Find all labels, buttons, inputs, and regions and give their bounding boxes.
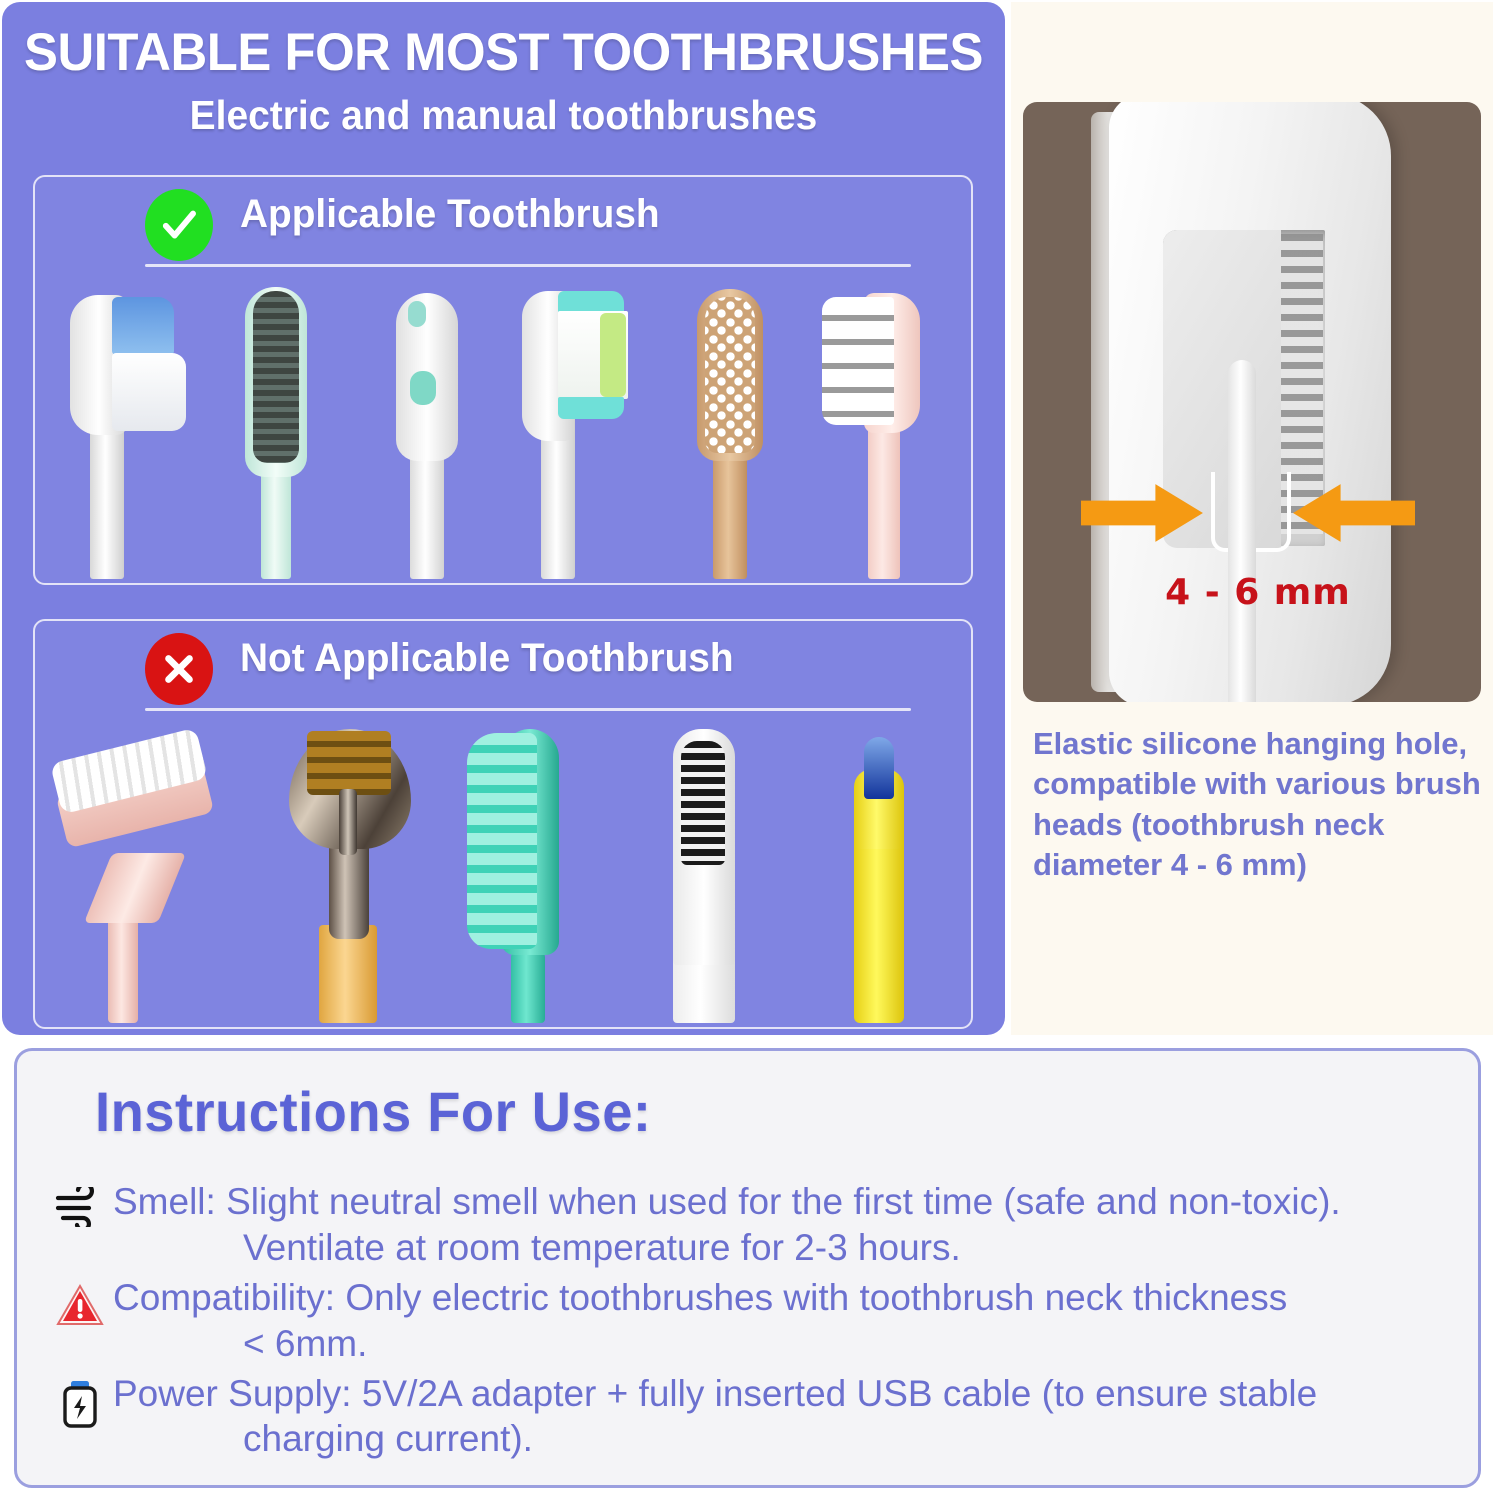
inserted-toothbrush-neck (1228, 360, 1256, 702)
not-applicable-toothbrush-card: Not Applicable Toothbrush (33, 619, 973, 1029)
list-item: Compatibility: Only electric toothbrushe… (47, 1273, 1450, 1367)
instructions-panel: Instructions For Use: Smell: Slight neut… (14, 1048, 1481, 1488)
instruction-line-1: Smell: Slight neutral smell when used fo… (113, 1181, 1341, 1222)
applicable.items.0 (50, 279, 200, 579)
infographic-page: SUITABLE FOR MOST TOOTHBRUSHES Electric … (0, 0, 1495, 1495)
applicable.items.2 (352, 279, 502, 579)
not-applicable-card-label: Not Applicable Toothbrush (240, 636, 734, 681)
device-hanging-hole-photo: 4 - 6 mm (1023, 102, 1481, 702)
not_applicable.items.0 (52, 723, 262, 1023)
instructions-title: Instructions For Use: (95, 1079, 651, 1144)
suitability-panel: SUITABLE FOR MOST TOOTHBRUSHES Electric … (2, 2, 1005, 1035)
applicable-card-label: Applicable Toothbrush (240, 192, 660, 237)
instruction-line-2: < 6mm. (113, 1321, 1287, 1367)
applicable.items.5 (806, 279, 956, 579)
instruction-line-1: Power Supply: 5V/2A adapter + fully inse… (113, 1373, 1317, 1414)
applicable-toothbrush-card: Applicable Toothbrush (33, 175, 973, 585)
instruction-text: Smell: Slight neutral smell when used fo… (113, 1177, 1341, 1271)
list-item: Smell: Slight neutral smell when used fo… (47, 1177, 1450, 1271)
page-title: SUITABLE FOR MOST TOOTHBRUSHES (22, 2, 985, 80)
instruction-text: Compatibility: Only electric toothbrushe… (113, 1273, 1287, 1367)
applicable-card-header: Applicable Toothbrush (35, 177, 971, 269)
check-icon (145, 189, 213, 261)
applicable-brush-row (49, 261, 957, 579)
not_applicable.items.4 (804, 723, 954, 1023)
not_applicable.items.2 (453, 723, 623, 1023)
applicable.items.1 (201, 279, 351, 579)
not-applicable-brush-row (49, 705, 957, 1023)
wind-icon (47, 1177, 113, 1227)
instruction-line-2: charging current). (113, 1416, 1317, 1462)
not-applicable-card-header: Not Applicable Toothbrush (35, 621, 971, 713)
not_applicable.items.1 (267, 723, 447, 1023)
applicable.items.4 (655, 279, 805, 579)
arrow-right-icon (1081, 482, 1205, 544)
not_applicable.items.3 (629, 723, 799, 1023)
instruction-line-2: Ventilate at room temperature for 2-3 ho… (113, 1225, 1341, 1271)
instruction-line-1: Compatibility: Only electric toothbrushe… (113, 1277, 1287, 1318)
device-caption: Elastic silicone hanging hole, compatibl… (1033, 724, 1483, 885)
instructions-list: Smell: Slight neutral smell when used fo… (47, 1177, 1450, 1464)
applicable.items.3 (504, 279, 654, 579)
page-subtitle: Electric and manual toothbrushes (27, 80, 980, 137)
instruction-text: Power Supply: 5V/2A adapter + fully inse… (113, 1369, 1317, 1463)
neck-dimension-label: 4 - 6 mm (1143, 572, 1373, 613)
battery-charge-icon (47, 1369, 113, 1429)
warning-triangle-icon (47, 1273, 113, 1327)
list-item: Power Supply: 5V/2A adapter + fully inse… (47, 1369, 1450, 1463)
cross-icon (145, 633, 213, 705)
device-detail-column: 4 - 6 mm Elastic silicone hanging hole, … (1011, 2, 1493, 1035)
arrow-left-icon (1291, 482, 1415, 544)
